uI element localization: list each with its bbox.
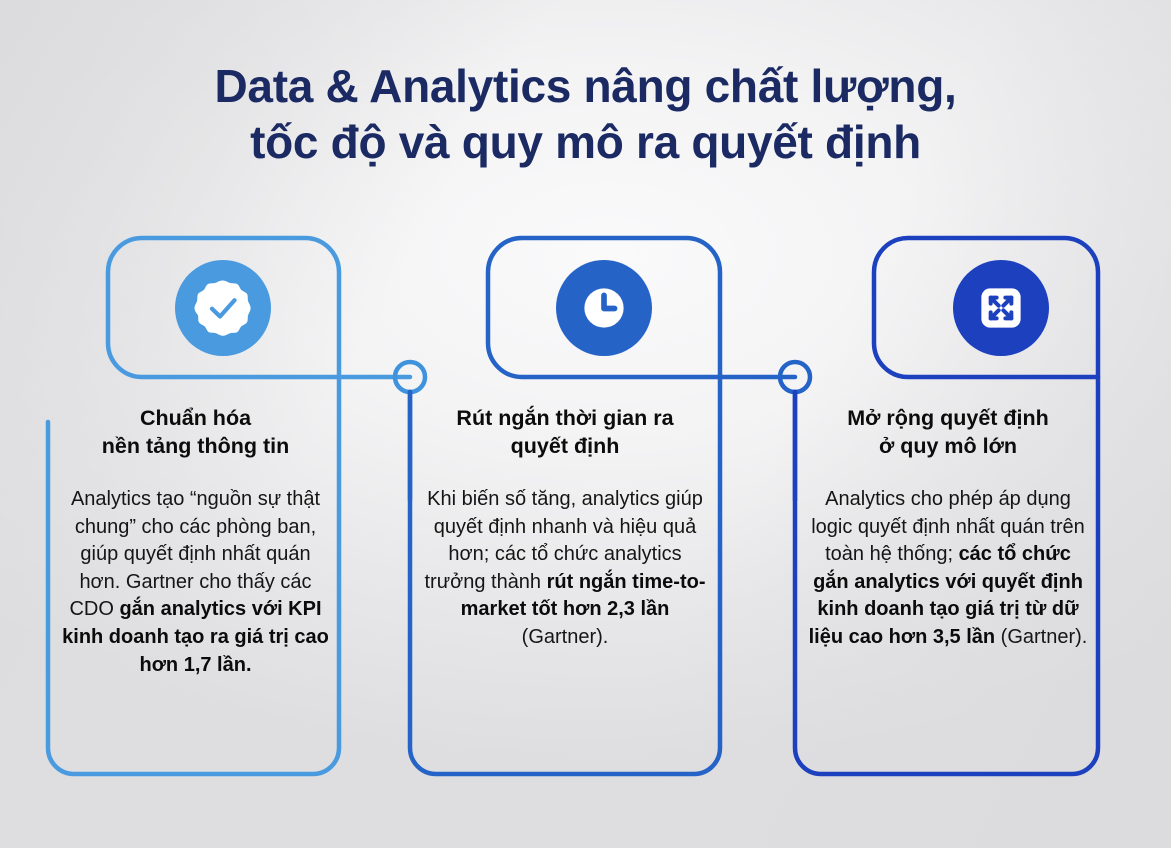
expand-arrows-icon bbox=[970, 277, 1032, 339]
step3-heading: Mở rộng quyết định ở quy mô lớn bbox=[808, 405, 1088, 460]
title-line-1: Data & Analytics nâng chất lượng, bbox=[0, 58, 1171, 114]
step1-body: Analytics tạo “nguồn sự thật chung” cho … bbox=[58, 486, 333, 679]
step1-heading-line-2: nền tảng thông tin bbox=[102, 434, 290, 458]
step1-text-block: Chuẩn hóa nền tảng thông tin Analytics t… bbox=[58, 405, 333, 679]
step3-text-block: Mở rộng quyết định ở quy mô lớn Analytic… bbox=[808, 405, 1088, 652]
step2-body: Khi biến số tăng, analytics giúp quyết đ… bbox=[420, 486, 710, 652]
step2-icon-badge bbox=[556, 260, 652, 356]
step1-heading: Chuẩn hóa nền tảng thông tin bbox=[58, 405, 333, 460]
infographic-canvas: Data & Analytics nâng chất lượng, tốc độ… bbox=[0, 0, 1171, 848]
step2-heading: Rút ngắn thời gian ra quyết định bbox=[420, 405, 710, 460]
step2-text-block: Rút ngắn thời gian ra quyết định Khi biế… bbox=[420, 405, 710, 652]
verified-badge-check-icon bbox=[193, 278, 253, 338]
step1-heading-line-1: Chuẩn hóa bbox=[140, 406, 251, 430]
page-title: Data & Analytics nâng chất lượng, tốc độ… bbox=[0, 58, 1171, 170]
step3-body: Analytics cho phép áp dụng logic quyết đ… bbox=[808, 486, 1088, 652]
step1-icon-badge bbox=[175, 260, 271, 356]
step3-heading-line-2: ở quy mô lớn bbox=[879, 434, 1017, 458]
step2-heading-line-1: Rút ngắn thời gian ra bbox=[456, 406, 673, 430]
step2-body-plain-2: (Gartner). bbox=[522, 626, 609, 648]
title-line-2: tốc độ và quy mô ra quyết định bbox=[0, 114, 1171, 170]
step3-icon-badge bbox=[953, 260, 1049, 356]
step3-heading-line-1: Mở rộng quyết định bbox=[847, 406, 1049, 430]
clock-icon bbox=[573, 277, 635, 339]
step3-body-plain-2: (Gartner). bbox=[995, 626, 1087, 648]
step2-heading-line-2: quyết định bbox=[511, 434, 620, 458]
